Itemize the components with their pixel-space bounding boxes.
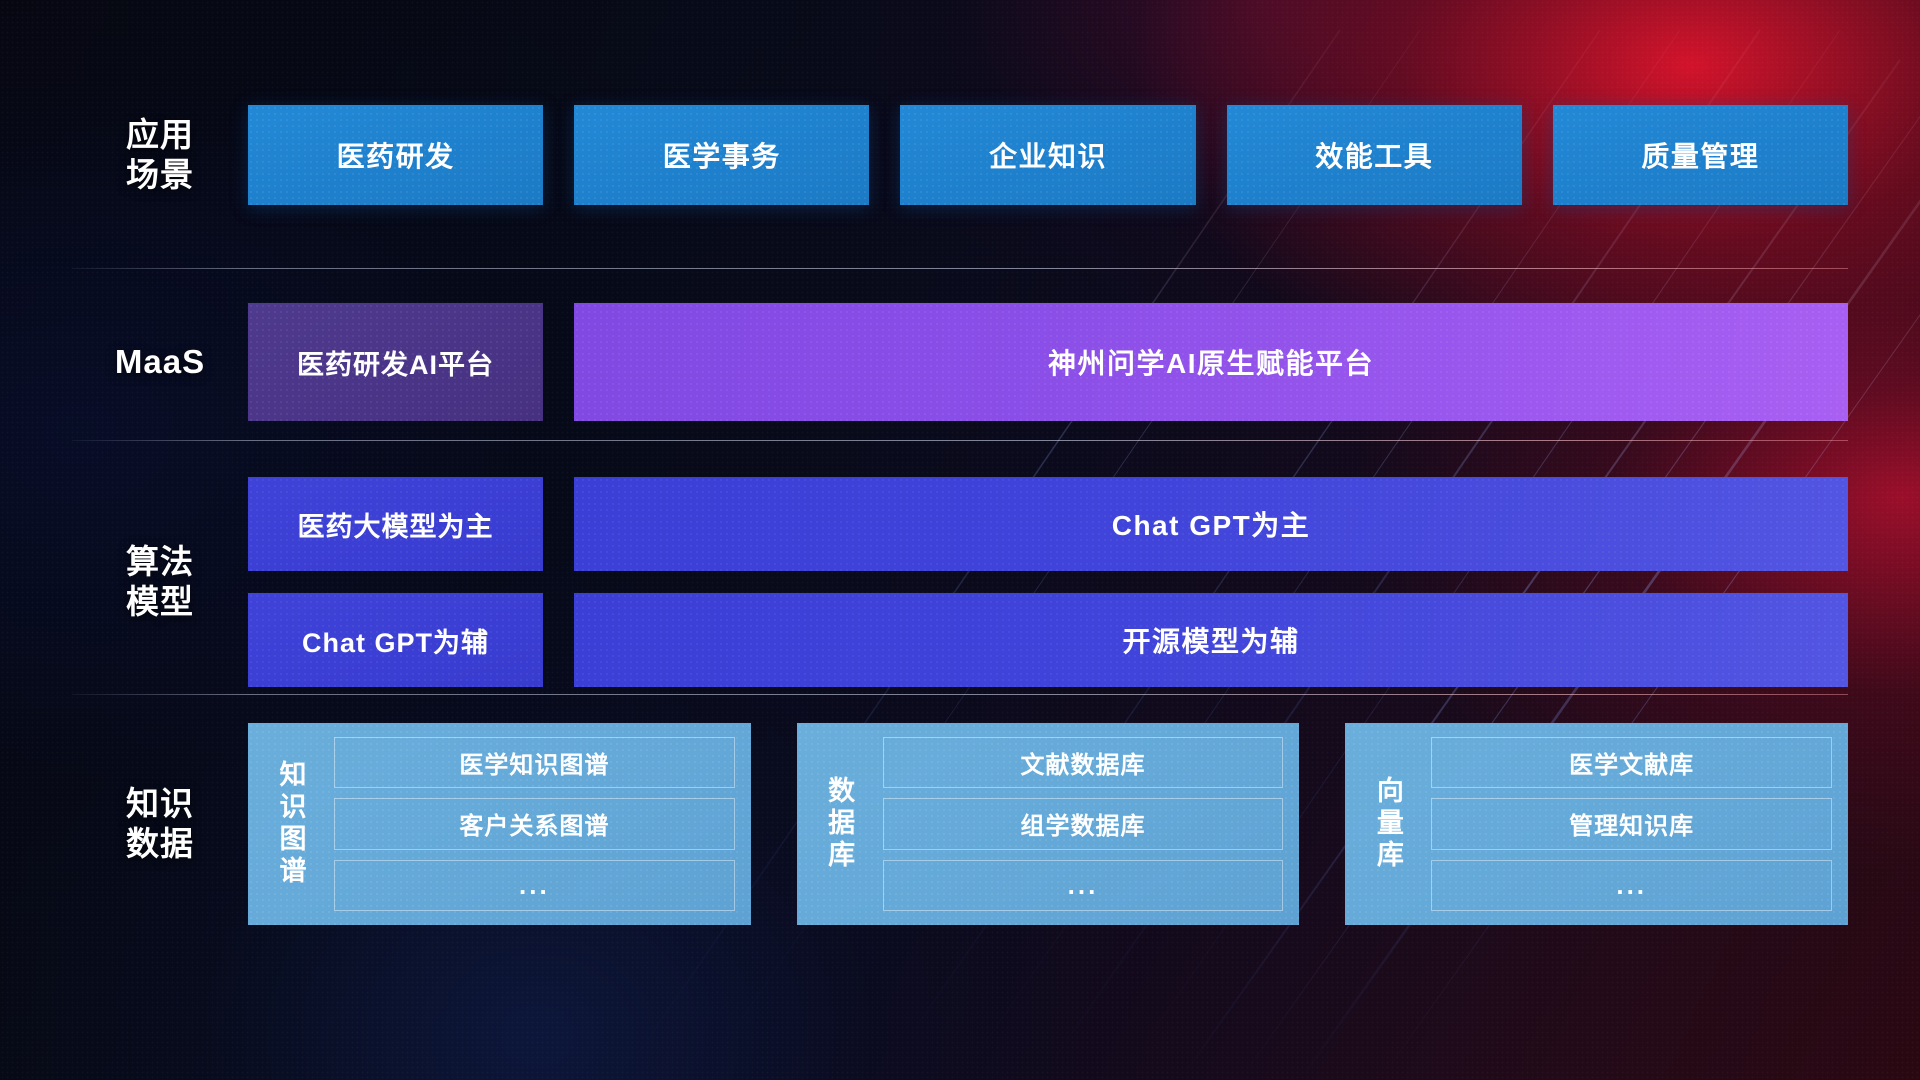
layer-row-algorithm-models: 算法 模型 医药大模型为主 Chat GPT为主 Chat GPT为辅	[72, 462, 1848, 702]
application-card-label: 效能工具	[1315, 135, 1433, 175]
knowledge-item-label: 医学知识图谱	[459, 745, 609, 780]
knowledge-item-label: 客户关系图谱	[459, 806, 609, 841]
knowledge-panel-vertical-label: 向 量 库	[1363, 737, 1417, 911]
algorithm-card-opensource-secondary[interactable]: 开源模型为辅	[574, 593, 1848, 687]
vertical-label-char: 图	[280, 824, 307, 856]
knowledge-item-medical-knowledge-graph[interactable]: 医学知识图谱	[334, 737, 735, 788]
knowledge-item-list: 医学知识图谱 客户关系图谱 ...	[334, 737, 735, 911]
maas-card-label: 医药研发AI平台	[297, 343, 494, 382]
knowledge-item-medical-literature-store[interactable]: 医学文献库	[1431, 737, 1832, 788]
maas-card-label: 神州问学AI原生赋能平台	[1048, 342, 1374, 382]
algorithm-card-chatgpt-primary[interactable]: Chat GPT为主	[574, 477, 1848, 571]
knowledge-panel-list: 知 识 图 谱 医学知识图谱 客户关系图谱 ...	[248, 723, 1848, 925]
maas-card-shenzhou-wenxue-platform[interactable]: 神州问学AI原生赋能平台	[574, 303, 1848, 421]
layer-row-applications: 应用 场景 医药研发 医学事务 企业知识 效能工具 质量管理	[72, 100, 1848, 210]
maas-card-pharma-ai-platform[interactable]: 医药研发AI平台	[248, 303, 543, 421]
application-card-label: 企业知识	[989, 135, 1107, 175]
row-label-algorithm-models: 算法 模型	[72, 542, 248, 623]
application-card-label: 医药研发	[337, 135, 455, 175]
knowledge-panel-vertical-label: 数 据 库	[815, 737, 869, 911]
application-card-quality-management[interactable]: 质量管理	[1553, 105, 1848, 205]
vertical-label-char: 库	[828, 840, 855, 872]
row-label-line: 模型	[72, 582, 248, 622]
layer-row-maas: MaaS 医药研发AI平台 神州问学AI原生赋能平台	[72, 298, 1848, 426]
knowledge-item-literature-database[interactable]: 文献数据库	[883, 737, 1284, 788]
application-card-label: 质量管理	[1641, 135, 1759, 175]
knowledge-panel-vertical-label: 知 识 图 谱	[266, 737, 320, 911]
knowledge-item-list: 文献数据库 组学数据库 ...	[883, 737, 1284, 911]
algorithm-card-label: 开源模型为辅	[1122, 620, 1299, 660]
diagram-canvas: 应用 场景 医药研发 医学事务 企业知识 效能工具 质量管理	[0, 0, 1920, 1080]
maas-platform-list: 医药研发AI平台 神州问学AI原生赋能平台	[248, 303, 1848, 421]
vertical-label-char: 知	[280, 760, 307, 792]
knowledge-item-list: 医学文献库 管理知识库 ...	[1431, 737, 1832, 911]
knowledge-item-label: 组学数据库	[1021, 806, 1146, 841]
knowledge-item-more[interactable]: ...	[883, 860, 1284, 911]
row-label-maas: MaaS	[72, 342, 248, 382]
knowledge-item-label: ...	[1068, 870, 1099, 901]
application-card-medical-affairs[interactable]: 医学事务	[574, 105, 869, 205]
algorithm-card-label: 医药大模型为主	[298, 505, 494, 544]
knowledge-item-label: 文献数据库	[1021, 745, 1146, 780]
application-card-medicine-rd[interactable]: 医药研发	[248, 105, 543, 205]
vertical-label-char: 量	[1377, 808, 1404, 840]
algorithm-card-pharma-llm-primary[interactable]: 医药大模型为主	[248, 477, 543, 571]
vertical-label-char: 据	[828, 808, 855, 840]
application-card-efficiency-tools[interactable]: 效能工具	[1227, 105, 1522, 205]
knowledge-panel-database[interactable]: 数 据 库 文献数据库 组学数据库 ...	[797, 723, 1300, 925]
knowledge-item-customer-relation-graph[interactable]: 客户关系图谱	[334, 798, 735, 849]
row-label-knowledge-data: 知识 数据	[72, 784, 248, 865]
knowledge-item-more[interactable]: ...	[334, 860, 735, 911]
row-label-line: 场景	[72, 155, 248, 195]
row-label-line: 数据	[72, 824, 248, 864]
algorithm-model-primary-line: 医药大模型为主 Chat GPT为主	[248, 477, 1848, 571]
row-divider-apps-maas	[72, 268, 1848, 269]
application-card-label: 医学事务	[663, 135, 781, 175]
knowledge-item-management-knowledge-store[interactable]: 管理知识库	[1431, 798, 1832, 849]
row-divider-maas-algo	[72, 440, 1848, 441]
row-label-applications: 应用 场景	[72, 115, 248, 196]
vertical-label-char: 库	[1377, 840, 1404, 872]
application-card-list: 医药研发 医学事务 企业知识 效能工具 质量管理	[248, 105, 1848, 205]
vertical-label-char: 识	[280, 792, 307, 824]
knowledge-item-label: 医学文献库	[1569, 745, 1694, 780]
row-divider-algo-knowledge	[72, 694, 1848, 695]
algorithm-model-list: 医药大模型为主 Chat GPT为主 Chat GPT为辅 开源模型为辅	[248, 477, 1848, 687]
row-label-line: 应用	[72, 115, 248, 155]
algorithm-card-label: Chat GPT为主	[1112, 504, 1311, 544]
knowledge-item-label: ...	[1616, 870, 1647, 901]
row-label-line: MaaS	[72, 342, 248, 382]
algorithm-model-secondary-line: Chat GPT为辅 开源模型为辅	[248, 593, 1848, 687]
knowledge-item-omics-database[interactable]: 组学数据库	[883, 798, 1284, 849]
algorithm-card-label: Chat GPT为辅	[302, 621, 489, 660]
row-label-line: 知识	[72, 784, 248, 824]
knowledge-panel-vector-store[interactable]: 向 量 库 医学文献库 管理知识库 ...	[1345, 723, 1848, 925]
vertical-label-char: 数	[828, 776, 855, 808]
knowledge-panel-knowledge-graph[interactable]: 知 识 图 谱 医学知识图谱 客户关系图谱 ...	[248, 723, 751, 925]
vertical-label-char: 向	[1377, 776, 1404, 808]
knowledge-item-label: ...	[519, 870, 550, 901]
row-label-line: 算法	[72, 542, 248, 582]
application-card-enterprise-knowledge[interactable]: 企业知识	[900, 105, 1195, 205]
layer-row-knowledge-data: 知识 数据 知 识 图 谱 医学知识图谱	[72, 718, 1848, 930]
knowledge-item-label: 管理知识库	[1569, 806, 1694, 841]
algorithm-card-chatgpt-secondary[interactable]: Chat GPT为辅	[248, 593, 543, 687]
knowledge-item-more[interactable]: ...	[1431, 860, 1832, 911]
vertical-label-char: 谱	[280, 856, 307, 888]
